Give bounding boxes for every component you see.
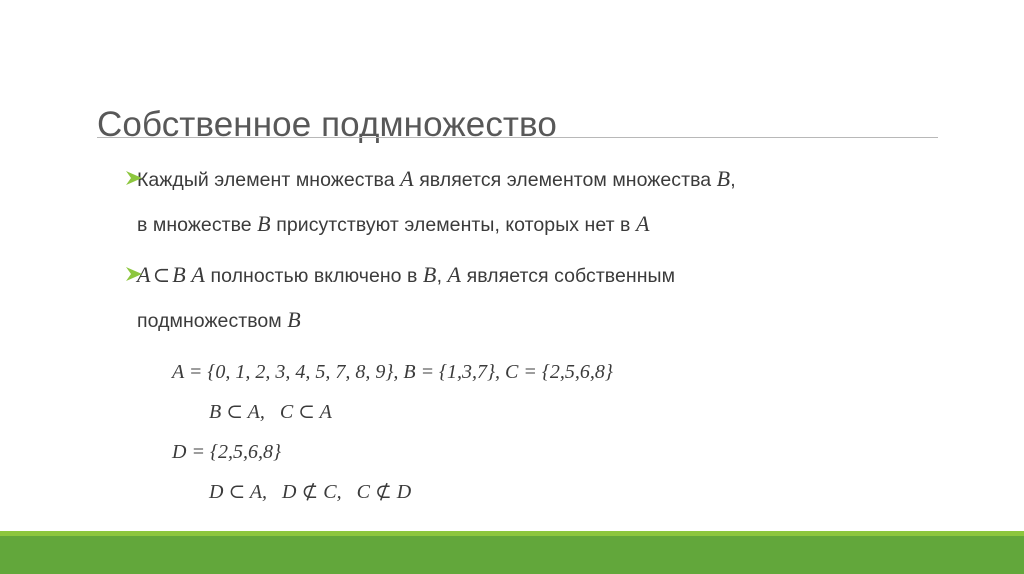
text-run: полностью включено в xyxy=(205,265,423,287)
math-variable: B xyxy=(257,211,271,236)
text-run: является элементом множества xyxy=(414,169,717,191)
math-expression-block: A = {0, 1, 2, 3, 4, 5, 7, 8, 9}, B = {1,… xyxy=(97,352,942,512)
math-variable: B xyxy=(423,262,437,287)
bullet-2-line-1: A⊂B A полностью включено в B, A является… xyxy=(97,253,942,298)
math-line-set-d: D = {2,5,6,8} xyxy=(97,432,942,472)
bullet-item-1: Каждый элемент множества A является элем… xyxy=(97,157,942,247)
math-line-sets: A = {0, 1, 2, 3, 4, 5, 7, 8, 9}, B = {1,… xyxy=(97,352,942,392)
bullet-item-2: A⊂B A полностью включено в B, A является… xyxy=(97,253,942,343)
text-run: присутствуют элементы, которых нет в xyxy=(271,214,636,236)
math-variable: A xyxy=(636,211,650,236)
math-variable: A xyxy=(191,262,205,287)
math-variable: A xyxy=(400,166,414,191)
text-run: Каждый элемент множества xyxy=(137,169,400,191)
text-run: подмножеством xyxy=(137,310,287,332)
slide-body: Каждый элемент множества A является элем… xyxy=(97,157,942,349)
math-variable: B xyxy=(287,307,301,332)
math-variable: B xyxy=(717,166,731,191)
bullet-2-text-run: A⊂B A полностью включено в B, A является… xyxy=(137,265,675,287)
text-run: является собственным xyxy=(461,265,675,287)
bullet-1-line-1: Каждый элемент множества A является элем… xyxy=(97,157,942,202)
bullet-1-continuation-run: в множестве B присутствуют элементы, кот… xyxy=(137,214,650,236)
text-run: , xyxy=(730,169,735,191)
bullet-1-text-run: Каждый элемент множества A является элем… xyxy=(137,169,736,191)
bullet-1-line-2: в множестве B присутствуют элементы, кот… xyxy=(97,202,942,247)
bullet-2-line-2: подмножеством B xyxy=(97,298,942,343)
text-run: в множестве xyxy=(137,214,257,236)
green-arrow-bullet-icon xyxy=(125,170,143,186)
green-arrow-bullet-icon xyxy=(125,266,143,282)
title-divider xyxy=(97,137,938,138)
bullet-2-continuation-run: подмножеством B xyxy=(137,310,301,332)
math-line-subsets-2: D ⊂ A, D ⊄ C, C ⊄ D xyxy=(97,472,942,512)
math-operator: ⊂ xyxy=(151,263,173,287)
footer-accent-bar-dark xyxy=(0,536,1024,574)
slide-canvas: Собственное подмножество Каждый элемент … xyxy=(0,0,1024,574)
page-title: Собственное подмножество xyxy=(97,103,942,147)
math-variable: B xyxy=(172,262,186,287)
math-variable: A xyxy=(448,262,462,287)
text-run: , xyxy=(437,265,448,287)
math-line-subsets-1: B ⊂ A, C ⊂ A xyxy=(97,392,942,432)
